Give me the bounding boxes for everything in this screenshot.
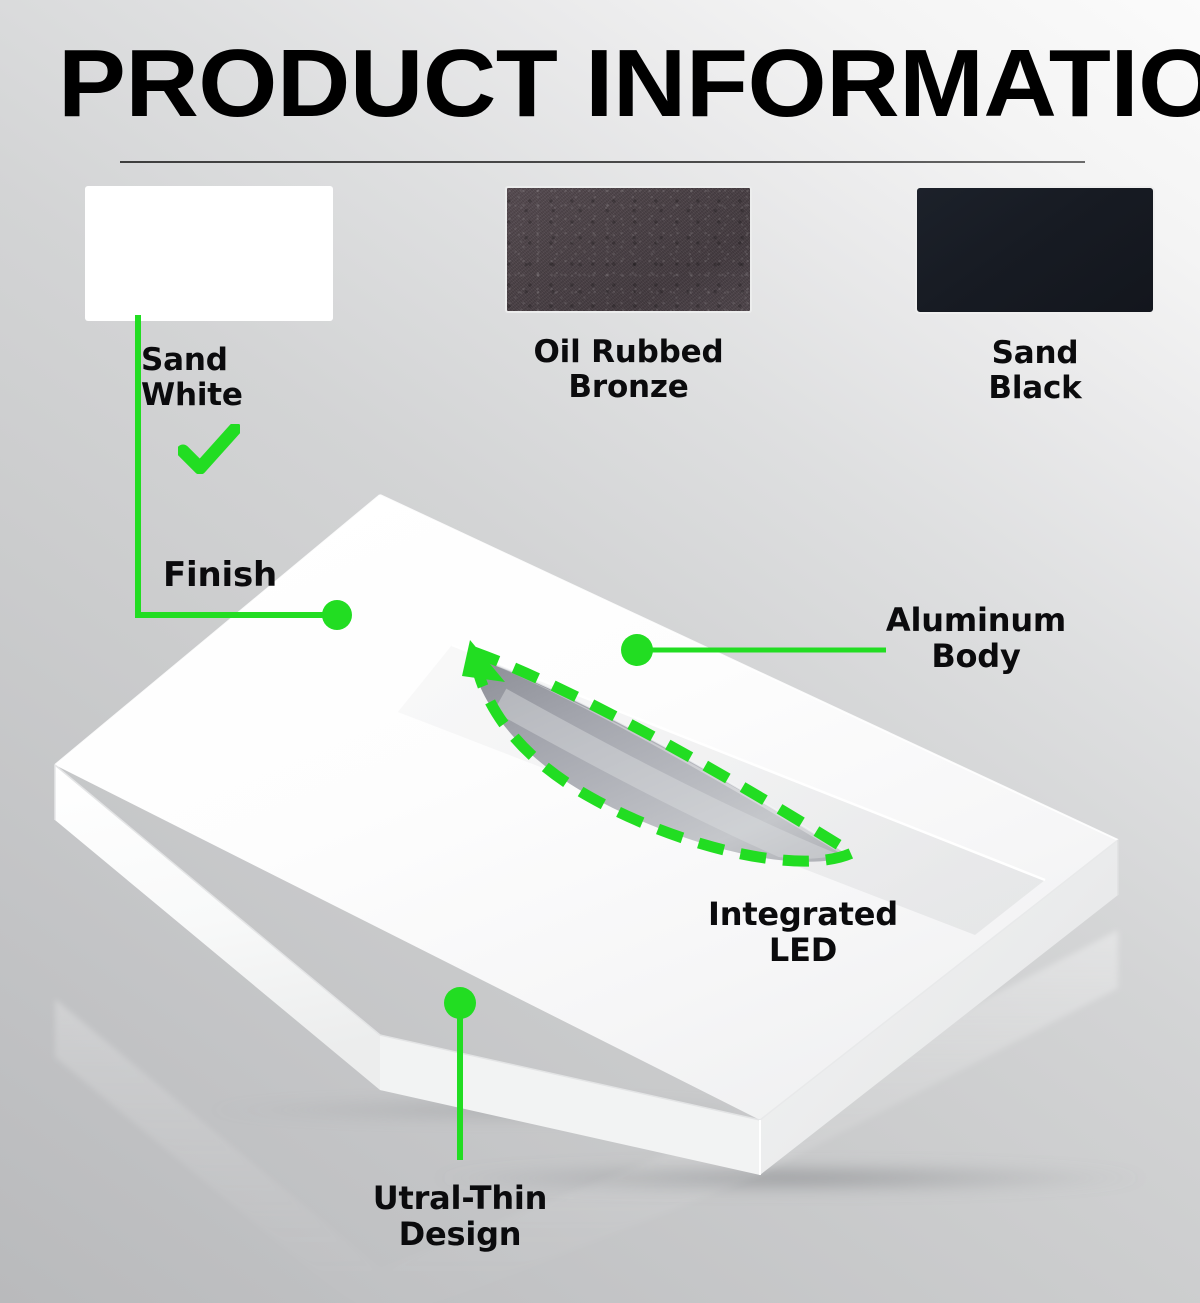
callout-label-integrated-led: Integrated LED [690, 896, 916, 969]
callout-dot-ultra-thin [444, 987, 476, 1019]
infographic-root: PRODUCT INFORMATION SandWhite Oil Rubbed… [0, 0, 1200, 1303]
callout-dot-finish [322, 600, 352, 630]
callout-dot-aluminum-body [621, 634, 653, 666]
callout-label-aluminum-body: Aluminum Body [866, 602, 1086, 675]
callout-label-ultra-thin-design: Utral-Thin Design [350, 1180, 570, 1253]
callout-label-finish: Finish [163, 556, 277, 595]
